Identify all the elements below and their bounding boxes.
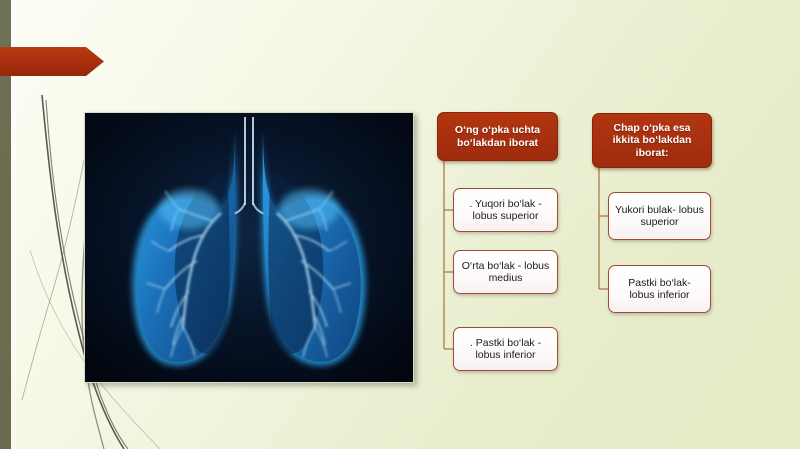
- node-right-lung-middle-lobe-label: O‘rta bo‘lak - lobus medius: [460, 260, 551, 285]
- node-right-lung-title-label: O‘ng o‘pka uchta bo‘lakdan iborat: [444, 124, 551, 149]
- node-right-lung-title[interactable]: O‘ng o‘pka uchta bo‘lakdan iborat: [437, 112, 558, 161]
- node-right-lung-upper-lobe-label: . Yuqori bo‘lak - lobus superior: [460, 198, 551, 223]
- node-right-lung-lower-lobe[interactable]: . Pastki bo‘lak - lobus inferior: [453, 327, 558, 371]
- lungs-image: [84, 112, 414, 383]
- node-right-lung-upper-lobe[interactable]: . Yuqori bo‘lak - lobus superior: [453, 188, 558, 232]
- lobes-diagram: O‘ng o‘pka uchta bo‘lakdan iborat . Yuqo…: [425, 100, 725, 390]
- node-right-lung-middle-lobe[interactable]: O‘rta bo‘lak - lobus medius: [453, 250, 558, 294]
- node-left-lung-upper-lobe[interactable]: Yukori bulak- lobus superior: [608, 192, 711, 240]
- red-arrow-banner: [0, 45, 104, 78]
- node-right-lung-lower-lobe-label: . Pastki bo‘lak - lobus inferior: [460, 337, 551, 362]
- node-left-lung-lower-lobe-label: Pastki bo‘lak- lobus inferior: [615, 277, 704, 302]
- slide-canvas: O‘ng o‘pka uchta bo‘lakdan iborat . Yuqo…: [0, 0, 800, 449]
- node-left-lung-title-label: Chap o‘pka esa ikkita bo‘lakdan iborat:: [599, 122, 705, 159]
- node-left-lung-lower-lobe[interactable]: Pastki bo‘lak- lobus inferior: [608, 265, 711, 313]
- node-left-lung-title[interactable]: Chap o‘pka esa ikkita bo‘lakdan iborat:: [592, 113, 712, 168]
- node-left-lung-upper-lobe-label: Yukori bulak- lobus superior: [615, 204, 704, 229]
